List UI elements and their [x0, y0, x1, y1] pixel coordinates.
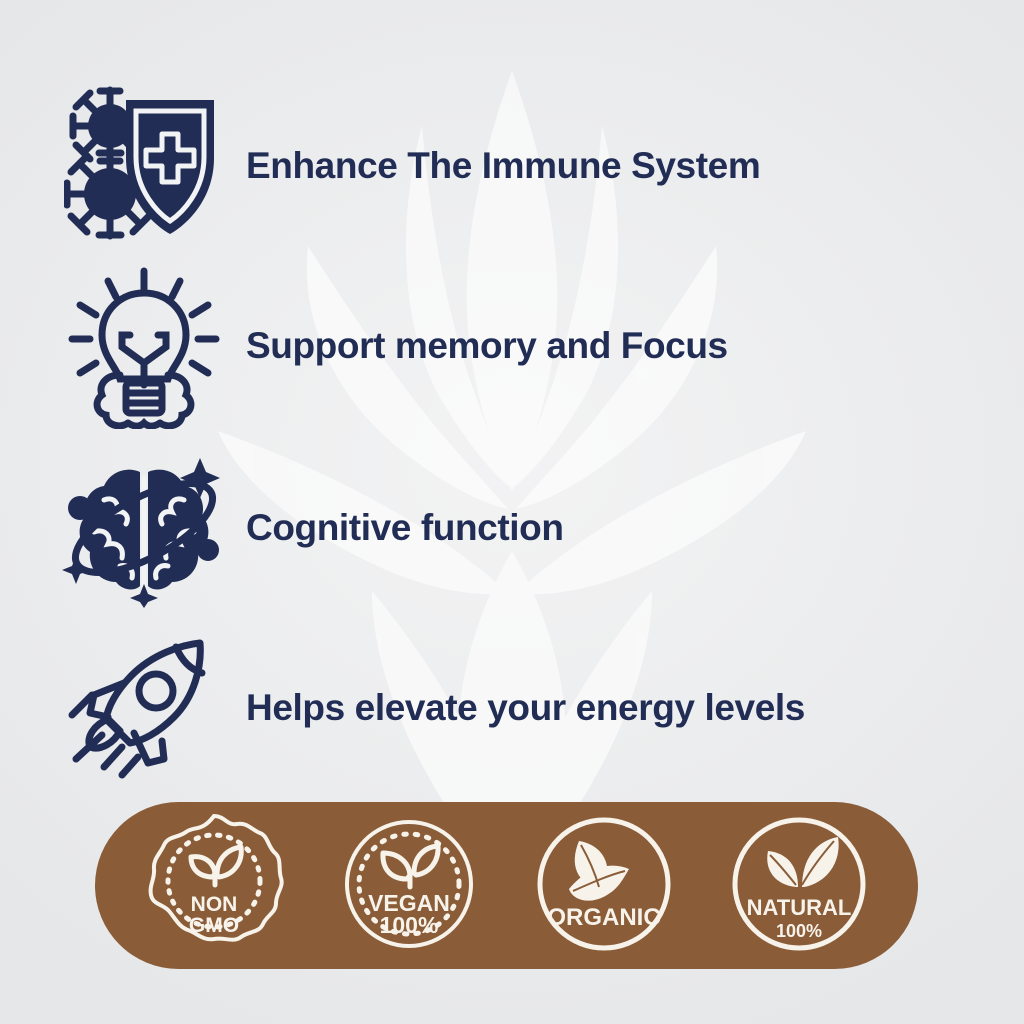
badge-line2: 100% — [380, 912, 439, 938]
certification-bar: NON GMO VEGAN 100% — [95, 802, 918, 969]
non-gmo-leaf-seal-icon: NON GMO — [138, 810, 290, 962]
brain-atom-orbit-icon — [56, 440, 232, 616]
benefit-label: Cognitive function — [246, 508, 564, 549]
organic-leaf-seal-icon: ORGANIC — [528, 810, 680, 962]
shield-virus-protection-icon — [56, 78, 232, 254]
benefit-label: Enhance The Immune System — [246, 146, 760, 187]
rocket-launch-icon — [56, 620, 232, 796]
badge-line2: 100% — [776, 921, 822, 941]
benefits-infographic-poster: Enhance The Immune System — [0, 0, 1024, 1024]
badge-line1: ORGANIC — [547, 904, 660, 931]
benefit-label: Support memory and Focus — [246, 326, 728, 367]
badge-line2: GMO — [189, 914, 239, 937]
badge-line1: NON — [191, 893, 238, 916]
benefits-list: Enhance The Immune System — [0, 0, 1024, 800]
vegan-leaf-seal-icon: VEGAN 100% — [333, 810, 485, 962]
benefit-row: Support memory and Focus — [56, 258, 956, 434]
lightbulb-brain-idea-icon — [56, 258, 232, 434]
benefit-row: Enhance The Immune System — [56, 78, 956, 254]
benefit-label: Helps elevate your energy levels — [246, 688, 805, 729]
badge-line1: NATURAL — [746, 895, 851, 920]
natural-leaf-seal-icon: NATURAL 100% — [723, 810, 875, 962]
benefit-row: Helps elevate your energy levels — [56, 620, 956, 796]
benefit-row: Cognitive function — [56, 440, 956, 616]
